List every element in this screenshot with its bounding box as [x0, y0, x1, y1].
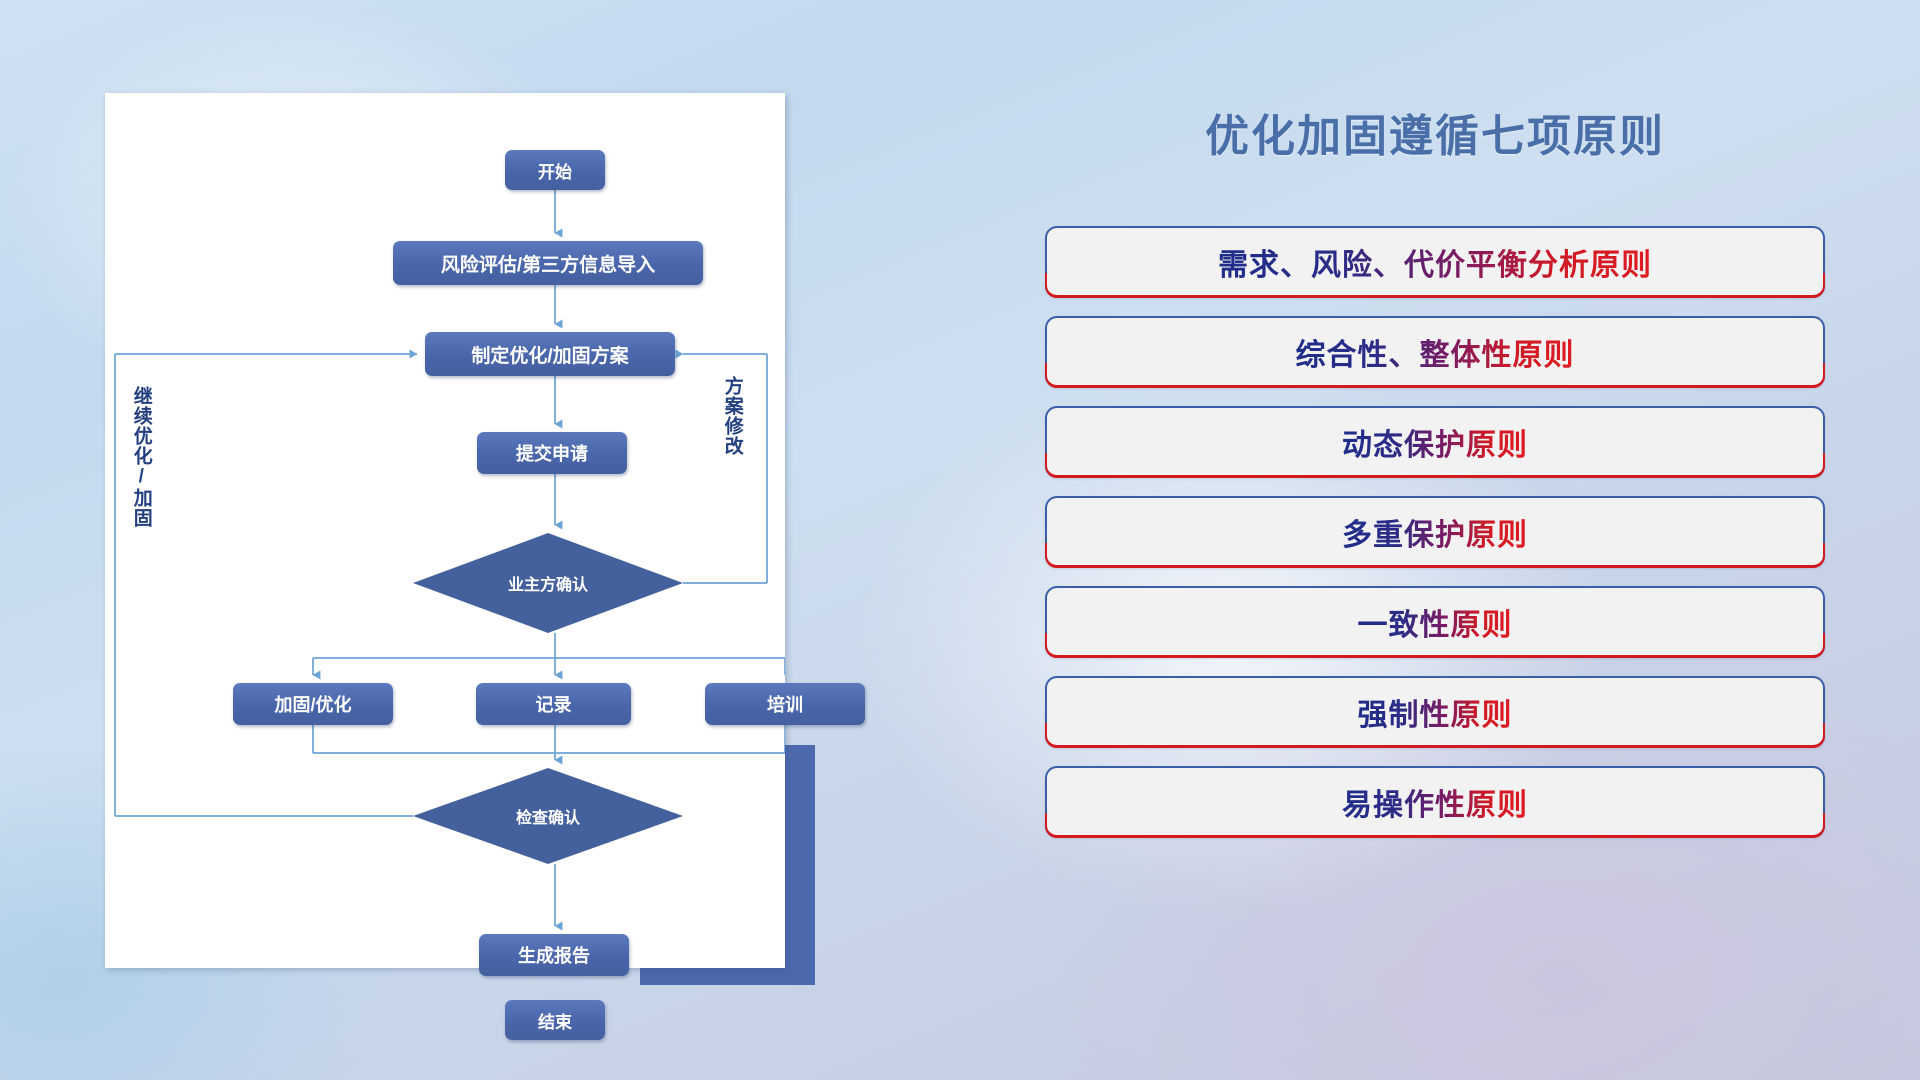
principle-card-1-label: 需求、风险、代价平衡分析原则 [1218, 240, 1652, 284]
principle-card-3[interactable]: 动态保护原则 [1045, 406, 1825, 478]
principles-pane: 优化加固遵循七项原则 需求、风险、代价平衡分析原则 综合性、整体性原则 动态保护… [1020, 100, 1850, 856]
principle-card-2-label: 综合性、整体性原则 [1296, 330, 1575, 374]
principle-card-5[interactable]: 一致性原则 [1045, 586, 1825, 658]
flow-node-training-label: 培训 [759, 691, 811, 717]
flow-node-end-label: 结束 [530, 1008, 580, 1033]
flow-label-continue-optimize: 继续优化/加固 [131, 386, 151, 528]
slide-root: 继续优化/加固 方案修改 开始 风险评估/第三方信息导入 制定优化/加固方案 提… [0, 0, 1920, 1080]
principle-card-3-label: 动态保护原则 [1342, 420, 1528, 464]
flow-node-reinforce-optimize-label: 加固/优化 [266, 691, 359, 717]
principle-card-6-label: 强制性原则 [1358, 690, 1513, 734]
principle-card-5-label: 一致性原则 [1358, 600, 1513, 644]
flow-node-training[interactable]: 培训 [705, 683, 865, 725]
flow-node-start[interactable]: 开始 [505, 150, 605, 190]
flow-node-owner-confirmation[interactable]: 业主方确认 [413, 533, 683, 633]
flow-node-record[interactable]: 记录 [476, 683, 631, 725]
flow-node-make-plan-label: 制定优化/加固方案 [463, 341, 636, 368]
principle-card-2[interactable]: 综合性、整体性原则 [1045, 316, 1825, 388]
flow-label-plan-revision: 方案修改 [722, 376, 742, 456]
flow-node-make-plan[interactable]: 制定优化/加固方案 [425, 332, 675, 376]
flow-node-start-label: 开始 [530, 158, 580, 183]
flow-node-submit-application[interactable]: 提交申请 [477, 432, 627, 474]
flow-node-check-confirmation[interactable]: 检查确认 [413, 768, 683, 864]
flow-node-reinforce-optimize[interactable]: 加固/优化 [233, 683, 393, 725]
flowchart-card: 继续优化/加固 方案修改 开始 风险评估/第三方信息导入 制定优化/加固方案 提… [105, 93, 785, 968]
flow-node-submit-application-label: 提交申请 [508, 440, 596, 466]
principle-card-4[interactable]: 多重保护原则 [1045, 496, 1825, 568]
principle-card-7[interactable]: 易操作性原则 [1045, 766, 1825, 838]
diamond-shape-icon [413, 768, 683, 864]
flow-node-risk-assessment-label: 风险评估/第三方信息导入 [433, 250, 663, 277]
flow-node-generate-report[interactable]: 生成报告 [479, 934, 629, 976]
diamond-shape-icon [413, 533, 683, 633]
flow-node-record-label: 记录 [528, 691, 580, 717]
principle-card-6[interactable]: 强制性原则 [1045, 676, 1825, 748]
flow-node-end[interactable]: 结束 [505, 1000, 605, 1040]
flow-node-generate-report-label: 生成报告 [510, 942, 598, 968]
flow-node-risk-assessment[interactable]: 风险评估/第三方信息导入 [393, 241, 703, 285]
principle-card-4-label: 多重保护原则 [1342, 510, 1528, 554]
principle-card-1[interactable]: 需求、风险、代价平衡分析原则 [1045, 226, 1825, 298]
principle-card-7-label: 易操作性原则 [1342, 780, 1528, 824]
page-title: 优化加固遵循七项原则 [1020, 100, 1850, 164]
